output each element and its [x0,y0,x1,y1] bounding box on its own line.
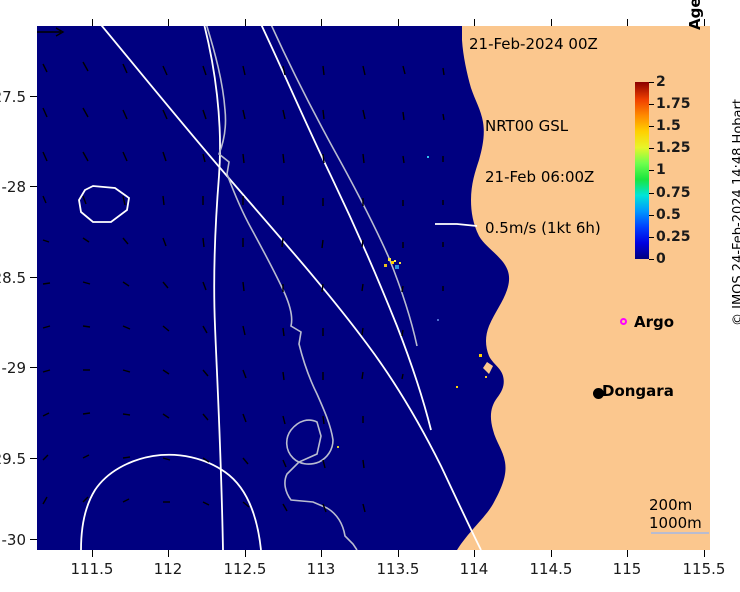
copyright-notice: © IMOS 24-Feb-2024 14:48 Hobart [731,99,740,326]
colorbar-label: 0.5 [656,207,681,223]
colorbar-label: 1.75 [656,96,691,112]
x-tick-label: 115 [592,560,662,578]
isobath-1000m-loop [79,186,129,222]
x-tick-label: 114.5 [516,560,586,578]
isobath-1000m-central [203,26,223,550]
colorbar-label: 1.5 [656,118,681,134]
colorbar-tick [649,215,654,216]
colorbar-tick [649,148,654,149]
isobath-1000m-south [81,455,261,550]
sst-age-map-figure: 21-Feb-2024 00Z NRT00 GSL 21-Feb 06:00Z … [0,0,740,592]
x-tick-top [704,19,705,26]
isobath-200m-group [205,26,417,550]
x-tick-top [627,19,628,26]
x-tick [92,550,93,557]
age-speckles [337,156,487,448]
depth-200-label: 200m [649,496,692,514]
isobath-1000m-coastal-stub [435,224,477,226]
x-tick-label: 111.5 [57,560,127,578]
argo-marker-icon [620,318,627,325]
colorbar-tick [649,126,654,127]
y-tick-label: -29.5 [0,450,26,468]
x-tick-top [245,19,246,26]
colorbar-tick [649,193,654,194]
y-tick [30,96,37,97]
x-tick-top [168,19,169,26]
x-tick [474,550,475,557]
x-tick-label: 112.5 [210,560,280,578]
x-tick-top [474,19,475,26]
y-tick-label: -27.5 [0,88,26,106]
isobath-1000m-group [79,26,481,550]
x-tick [245,550,246,557]
colorbar-label: 1 [656,162,666,178]
map-canvas [37,26,710,550]
y-tick-label: -30 [0,531,26,549]
colorbar-label: 0.75 [656,185,691,201]
map-plot-area[interactable]: 21-Feb-2024 00Z NRT00 GSL 21-Feb 06:00Z … [37,26,710,550]
isobath-200m-main [205,26,357,550]
right-arrow-icon [37,26,65,38]
y-tick-label: -28.5 [0,269,26,287]
y-tick-label: -29 [0,359,26,377]
y-tick-label: -28 [0,178,26,196]
y-tick [30,367,37,368]
colorbar-tick [649,237,654,238]
product-time: 21-Feb 06:00Z [485,169,601,186]
y-tick [30,458,37,459]
colorbar-tick [649,104,654,105]
colorbar-tick [649,259,654,260]
argo-legend-label: Argo [634,313,674,331]
current-vector-field [43,62,444,512]
date-stamp: 21-Feb-2024 00Z [469,36,598,53]
colorbar-tick [649,82,654,83]
x-tick [627,550,628,557]
x-tick-label: 113 [286,560,356,578]
product-name: NRT00 GSL [485,118,601,135]
colorbar-label: 0 [656,251,666,267]
y-tick [30,539,37,540]
x-tick [398,550,399,557]
colorbar-label: 0.25 [656,229,691,245]
x-tick-top [321,19,322,26]
x-tick-top [398,19,399,26]
y-tick [30,277,37,278]
dongara-label: Dongara [602,382,674,400]
depth-1000-label: 1000m [649,514,702,532]
x-tick [551,550,552,557]
vector-reference-speed: 0.5m/s (1kt 6h) [485,220,601,237]
x-tick-label: 114 [439,560,509,578]
colorbar-tick [649,170,654,171]
colorbar-label: 1.25 [656,140,691,156]
isobath-1000m-east [259,26,431,430]
colorbar-title: Age (days) of filled SST (wrt latest) [686,0,704,30]
y-tick [30,186,37,187]
colorbar-gradient [635,82,649,259]
x-tick [704,550,705,557]
isobath-200m-east [269,26,417,346]
x-tick-label: 115.5 [669,560,739,578]
colorbar-label: 2 [656,74,666,90]
x-tick-top [92,19,93,26]
x-tick-top [551,19,552,26]
x-tick-label: 112 [133,560,203,578]
x-tick [168,550,169,557]
x-tick [321,550,322,557]
coastal-island [483,362,493,374]
depth-200-line-swatch [651,532,709,534]
x-tick-label: 113.5 [363,560,433,578]
vector-scale-info: NRT00 GSL 21-Feb 06:00Z 0.5m/s (1kt 6h) [485,84,601,271]
